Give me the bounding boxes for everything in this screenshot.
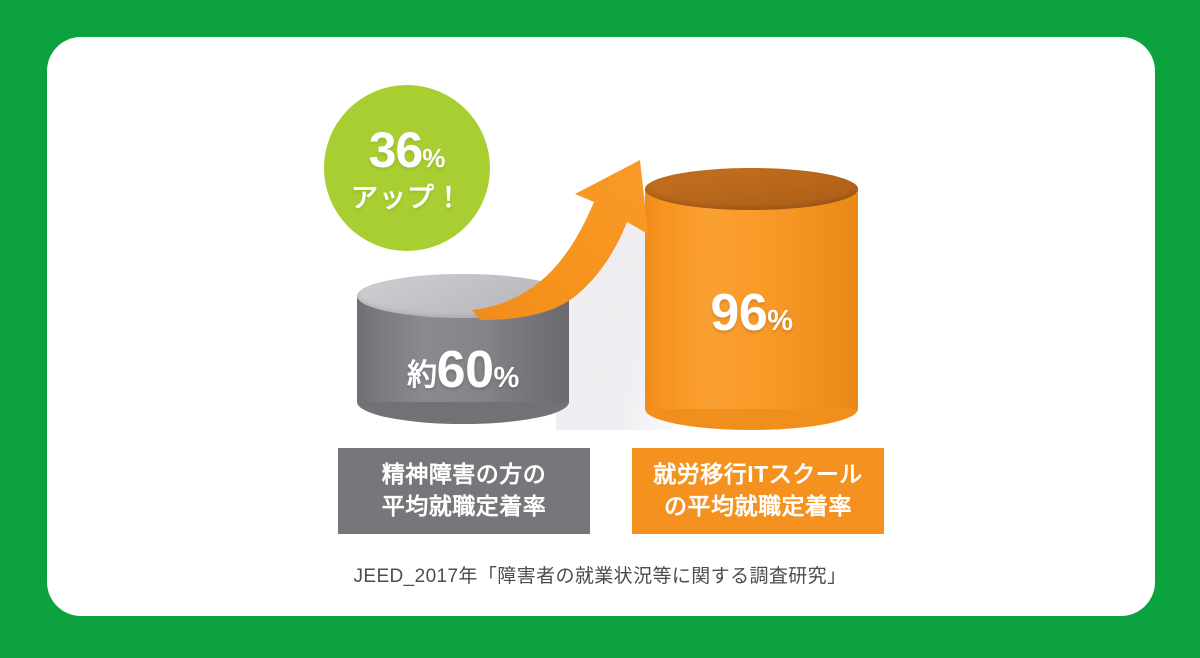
white-card-panel (47, 37, 1155, 616)
infographic-stage: 約60% 96% 36% アップ！ 精神障害の方の 平均就職定着率 就労移行IT… (0, 0, 1200, 658)
